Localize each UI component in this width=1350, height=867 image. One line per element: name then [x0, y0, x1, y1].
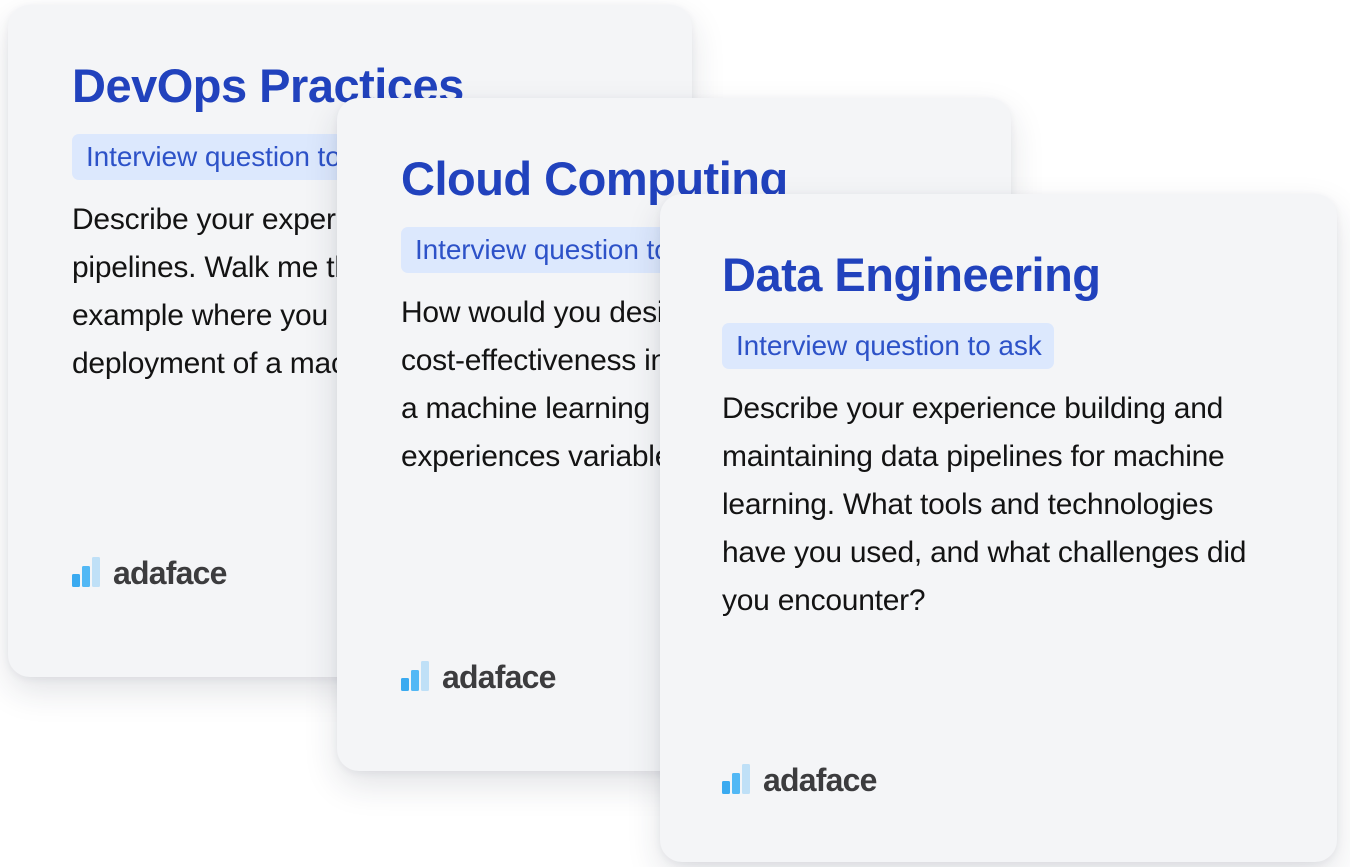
- adaface-bar-chart-icon: [401, 661, 431, 691]
- adaface-wordmark: adaface: [113, 557, 227, 589]
- adaface-wordmark: adaface: [442, 661, 556, 693]
- card-stack: DevOps Practices Interview question to a…: [0, 0, 1350, 867]
- question-card-data-engineering[interactable]: Data Engineering Interview question to a…: [660, 194, 1337, 862]
- interview-question-text: Describe your experience building and ma…: [722, 385, 1285, 625]
- status-badge: Interview question to ask: [722, 323, 1054, 370]
- adaface-bar-chart-icon: [722, 764, 752, 794]
- adaface-bar-chart-icon: [72, 557, 102, 587]
- content-spacer: [722, 625, 1285, 756]
- card-title: Data Engineering: [722, 250, 1285, 301]
- adaface-wordmark: adaface: [763, 764, 877, 796]
- badge-container: Interview question to ask: [722, 323, 1285, 370]
- card-content: Data Engineering Interview question to a…: [660, 194, 1337, 862]
- adaface-logo: adaface: [722, 756, 1285, 794]
